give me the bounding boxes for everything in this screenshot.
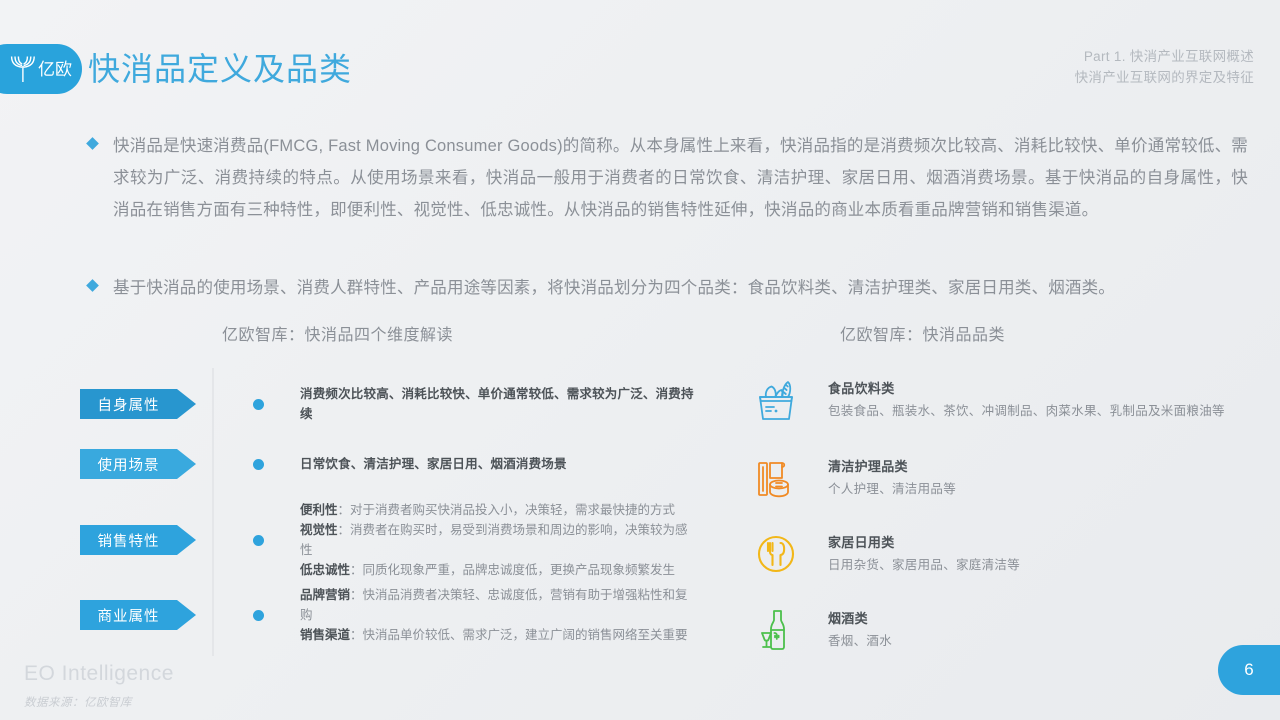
page-number-badge: 6: [1218, 645, 1280, 695]
dimension-row-self-attribute[interactable]: 自身属性 消费频次比较高、消耗比较快、单价通常较低、需求较为广泛、消费持续: [80, 384, 700, 424]
dimension-item-sep: ：: [350, 588, 363, 602]
category-texts: 清洁护理品类 个人护理、清洁用品等: [828, 450, 956, 500]
tissue-roll-icon: [748, 450, 804, 506]
category-desc: 日用杂货、家居用品、家庭清洁等: [828, 554, 1020, 576]
utensils-circle-icon: [748, 526, 804, 582]
wine-bottle-icon: [748, 602, 804, 658]
part-line-2: 快消产业互联网的界定及特征: [1075, 67, 1254, 88]
dimension-item: 销售渠道：快消品单价较低、需求广泛，建立广阔的销售网络至关重要: [300, 625, 700, 645]
dimension-content-sales-traits: 便利性：对于消费者购买快消品投入小，决策轻，需求最快捷的方式 视觉性：消费者在购…: [300, 500, 700, 580]
footer-brand: EO Intelligence: [24, 662, 174, 686]
dimension-item: 低忠诚性：同质化现象严重，品牌忠诚度低，更换产品现象频繁发生: [300, 560, 700, 580]
dimension-item-label: 低忠诚性: [300, 563, 350, 577]
category-texts: 食品饮料类 包装食品、瓶装水、茶饮、冲调制品、肉菜水果、乳制品及米面粮油等: [828, 372, 1225, 422]
dimension-row-usage-scenario[interactable]: 使用场景 日常饮食、清洁护理、家居日用、烟酒消费场景: [80, 449, 700, 479]
dimension-item-sep: ：: [350, 628, 363, 642]
yiou-logo-icon: [10, 54, 36, 84]
category-desc: 个人护理、清洁用品等: [828, 478, 956, 500]
dimension-tag-usage-scenario[interactable]: 使用场景: [80, 449, 177, 479]
slide-header: 亿欧 快消品定义及品类 Part 1. 快消产业互联网概述 快消产业互联网的界定…: [0, 0, 1280, 108]
logo-text: 亿欧: [38, 61, 72, 78]
dimension-item-sep: ：: [338, 503, 351, 517]
paragraph-block-1: 快消品是快速消费品(FMCG, Fast Moving Consumer Goo…: [88, 130, 1248, 226]
dimension-item-text: 对于消费者购买快消品投入小，决策轻，需求最快捷的方式: [350, 503, 675, 517]
category-name: 家居日用类: [828, 532, 1020, 554]
part-line-1: Part 1. 快消产业互联网概述: [1075, 46, 1254, 67]
grocery-bag-icon: [748, 372, 804, 428]
dimension-text: 消费频次比较高、消耗比较快、单价通常较低、需求较为广泛、消费持续: [300, 384, 700, 424]
dimension-item-text: 同质化现象严重，品牌忠诚度低，更换产品现象频繁发生: [363, 563, 676, 577]
dimension-item: 品牌营销：快消品消费者决策轻、忠诚度低，营销有助于增强粘性和复购: [300, 585, 700, 625]
dimension-content-usage-scenario: 日常饮食、清洁护理、家居日用、烟酒消费场景: [300, 454, 700, 474]
category-desc: 香烟、酒水: [828, 630, 892, 652]
dimension-content-business-attribute: 品牌营销：快消品消费者决策轻、忠诚度低，营销有助于增强粘性和复购 销售渠道：快消…: [300, 585, 700, 645]
category-name: 食品饮料类: [828, 378, 1225, 400]
category-texts: 家居日用类 日用杂货、家居用品、家庭清洁等: [828, 526, 1020, 576]
yiou-logo: 亿欧: [0, 44, 82, 94]
dimension-item-label: 视觉性: [300, 523, 338, 537]
paragraph-2-text: 基于快消品的使用场景、消费人群特性、产品用途等因素，将快消品划分为四个品类：食品…: [113, 272, 1248, 304]
dimensions-diagram: 自身属性 消费频次比较高、消耗比较快、单价通常较低、需求较为广泛、消费持续 使用…: [80, 360, 700, 660]
dimension-item: 便利性：对于消费者购买快消品投入小，决策轻，需求最快捷的方式: [300, 500, 700, 520]
dimension-tag-business-attribute[interactable]: 商业属性: [80, 600, 177, 630]
dimension-tag-sales-traits[interactable]: 销售特性: [80, 525, 177, 555]
category-item-cleaning-care[interactable]: 清洁护理品类 个人护理、清洁用品等: [748, 450, 1258, 506]
dimension-row-business-attribute[interactable]: 商业属性 品牌营销：快消品消费者决策轻、忠诚度低，营销有助于增强粘性和复购 销售…: [80, 585, 700, 645]
right-chart-subtitle: 亿欧智库：快消品品类: [840, 321, 1005, 345]
dimension-tag-self-attribute[interactable]: 自身属性: [80, 389, 177, 419]
dimension-item-label: 便利性: [300, 503, 338, 517]
page-title: 快消品定义及品类: [88, 44, 352, 94]
dimension-text: 日常饮食、清洁护理、家居日用、烟酒消费场景: [300, 454, 700, 474]
dot-icon: [253, 610, 264, 621]
section-breadcrumb: Part 1. 快消产业互联网概述 快消产业互联网的界定及特征: [1075, 46, 1254, 88]
category-texts: 烟酒类 香烟、酒水: [828, 602, 892, 652]
dimension-item-label: 销售渠道: [300, 628, 350, 642]
dimension-row-sales-traits[interactable]: 销售特性 便利性：对于消费者购买快消品投入小，决策轻，需求最快捷的方式 视觉性：…: [80, 500, 700, 580]
category-item-tobacco-alcohol[interactable]: 烟酒类 香烟、酒水: [748, 602, 1258, 658]
paragraph-1-text: 快消品是快速消费品(FMCG, Fast Moving Consumer Goo…: [113, 130, 1248, 226]
paragraph-block-2: 基于快消品的使用场景、消费人群特性、产品用途等因素，将快消品划分为四个品类：食品…: [88, 272, 1248, 304]
dimension-content-self-attribute: 消费频次比较高、消耗比较快、单价通常较低、需求较为广泛、消费持续: [300, 384, 700, 424]
left-chart-subtitle: 亿欧智库：快消品四个维度解读: [222, 321, 453, 345]
footer-source: 数据来源：亿欧智库: [24, 694, 132, 710]
dimension-item: 视觉性：消费者在购买时，易受到消费场景和周边的影响，决策较为感性: [300, 520, 700, 560]
dimension-item-sep: ：: [338, 523, 351, 537]
category-name: 清洁护理品类: [828, 456, 956, 478]
category-desc: 包装食品、瓶装水、茶饮、冲调制品、肉菜水果、乳制品及米面粮油等: [828, 400, 1225, 422]
dot-icon: [253, 459, 264, 470]
diamond-bullet-icon: [86, 137, 99, 150]
diamond-bullet-icon: [86, 279, 99, 292]
dimension-item-text: 消费者在购买时，易受到消费场景和周边的影响，决策较为感性: [300, 523, 688, 557]
category-name: 烟酒类: [828, 608, 892, 630]
category-item-food-beverage[interactable]: 食品饮料类 包装食品、瓶装水、茶饮、冲调制品、肉菜水果、乳制品及米面粮油等: [748, 372, 1258, 428]
dot-icon: [253, 399, 264, 410]
category-item-home-daily[interactable]: 家居日用类 日用杂货、家居用品、家庭清洁等: [748, 526, 1258, 582]
dimension-item-label: 品牌营销: [300, 588, 350, 602]
dimension-item-text: 快消品单价较低、需求广泛，建立广阔的销售网络至关重要: [363, 628, 688, 642]
dot-icon: [253, 535, 264, 546]
dimension-item-sep: ：: [350, 563, 363, 577]
logo-mark: 亿欧: [10, 54, 72, 84]
